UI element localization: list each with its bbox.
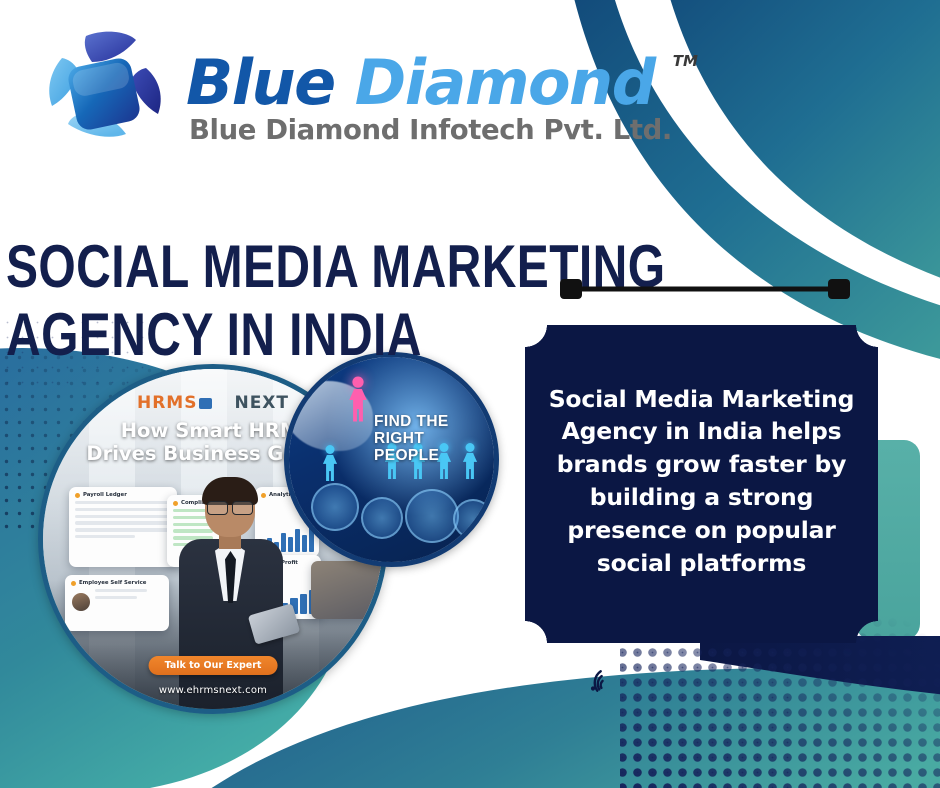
payroll-ledger-card: Payroll Ledger [69,487,177,567]
hrms-brand-part1: HRMS [137,393,197,413]
barbell-divider-icon [560,278,850,300]
logo-wordmark: Blue Diamond TM [186,54,672,113]
find-right-people-text: FIND THE RIGHT PEOPLE [374,413,492,464]
recruitment-graphic-background: FIND THE RIGHT PEOPLE [289,357,494,562]
candidate-figure [323,445,337,481]
glasses-icon [207,501,253,513]
logo-wordmark-group: Blue Diamond TM Blue Diamond Infotech Pv… [186,50,672,146]
trademark-symbol: TM [673,54,698,68]
brand-logo[interactable]: Blue Diamond TM Blue Diamond Infotech Pv… [28,28,672,168]
employee-avatar [72,593,90,611]
logo-tagline: Blue Diamond Infotech Pvt. Ltd. [189,114,672,146]
hrms-brand-dot-icon [199,398,212,409]
promo-card: Social Media Marketing Agency in India h… [525,325,878,643]
highlighted-candidate-figure [349,377,367,422]
employee-self-service-card: Employee Self Service [65,575,169,631]
poster-canvas: Blue Diamond TM Blue Diamond Infotech Pv… [0,0,940,788]
logo-word-diamond: Diamond [355,46,655,119]
blue-diamond-logo-icon [28,28,180,168]
gear-icon [311,483,359,531]
logo-word-blue: Blue [186,46,355,119]
promo-card-text: Social Media Marketing Agency in India h… [525,349,878,580]
find-right-people-line1: FIND THE [374,413,492,430]
gear-icon [405,489,459,543]
image-collage: HRMSNEXT How Smart HRMS Drives Business … [38,352,498,752]
wifi-signal-icon [586,668,612,694]
payroll-ledger-card-title: Payroll Ledger [75,492,171,498]
website-url[interactable]: www.ehrmsnext.com [43,685,383,696]
gear-icon [361,497,403,539]
team-photo-card [311,561,381,619]
employee-self-service-card-title: Employee Self Service [71,580,163,586]
find-right-people-line2: RIGHT PEOPLE [374,430,492,464]
hrms-brand-part2: NEXT [234,393,289,413]
find-right-people-image[interactable]: FIND THE RIGHT PEOPLE [284,352,499,567]
gear-icon [453,499,493,539]
talk-to-expert-button[interactable]: Talk to Our Expert [149,656,278,675]
